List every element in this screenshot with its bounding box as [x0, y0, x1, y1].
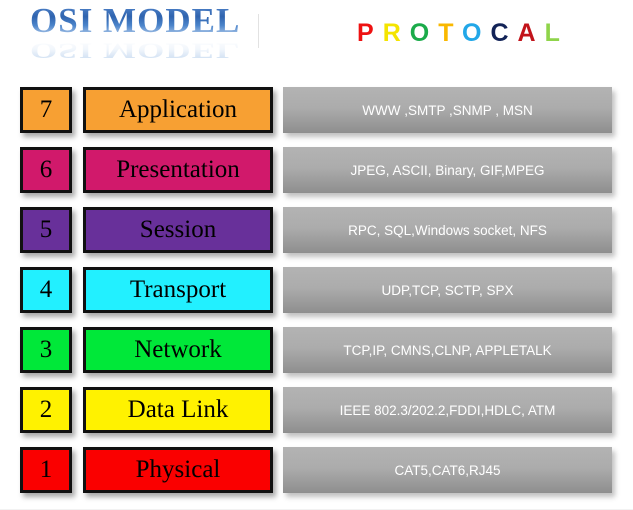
layer-name-box[interactable]: Data Link — [83, 387, 273, 433]
table-row: 4TransportUDP,TCP, SCTP, SPX — [0, 267, 633, 315]
table-row: 2Data LinkIEEE 802.3/202.2,FDDI,HDLC, AT… — [0, 387, 633, 435]
title-divider — [258, 14, 259, 48]
layer-number-label: 2 — [40, 396, 53, 424]
table-row: 7ApplicationWWW ,SMTP ,SNMP , MSN — [0, 87, 633, 135]
layer-number-box[interactable]: 5 — [20, 207, 72, 253]
protocol-title-letter-7: L — [545, 19, 569, 47]
layer-number-label: 7 — [40, 96, 53, 124]
layer-number-label: 6 — [40, 156, 53, 184]
layer-name-box[interactable]: Transport — [83, 267, 273, 313]
protocol-box[interactable]: RPC, SQL,Windows socket, NFS — [283, 207, 612, 253]
layer-name-label: Network — [134, 336, 221, 364]
layer-name-box[interactable]: Session — [83, 207, 273, 253]
protocol-label: TCP,IP, CMNS,CLNP, APPLETALK — [343, 343, 551, 358]
protocol-box[interactable]: CAT5,CAT6,RJ45 — [283, 447, 612, 493]
layer-number-box[interactable]: 2 — [20, 387, 72, 433]
layer-name-box[interactable]: Physical — [83, 447, 273, 493]
layer-number-box[interactable]: 4 — [20, 267, 72, 313]
layer-name-label: Data Link — [128, 396, 229, 424]
page-title: OSI MODEL — [30, 2, 270, 40]
layer-number-label: 5 — [40, 216, 53, 244]
osi-title-reflection: OSI MODEL — [30, 38, 270, 62]
layer-name-box[interactable]: Network — [83, 327, 273, 373]
layer-name-label: Session — [140, 216, 216, 244]
layer-number-box[interactable]: 1 — [20, 447, 72, 493]
protocol-box[interactable]: UDP,TCP, SCTP, SPX — [283, 267, 612, 313]
layer-name-label: Application — [119, 96, 237, 124]
layer-name-box[interactable]: Presentation — [83, 147, 273, 193]
table-row: 5SessionRPC, SQL,Windows socket, NFS — [0, 207, 633, 255]
layer-number-label: 1 — [40, 456, 53, 484]
layer-number-box[interactable]: 7 — [20, 87, 72, 133]
layer-name-label: Physical — [136, 456, 221, 484]
protocol-title-letter-5: C — [490, 19, 517, 47]
table-row: 1PhysicalCAT5,CAT6,RJ45 — [0, 447, 633, 495]
layer-name-box[interactable]: Application — [83, 87, 273, 133]
protocol-title-letter-2: O — [410, 19, 438, 47]
layer-name-label: Presentation — [116, 156, 240, 184]
protocol-column-title: PROTOCAL — [357, 19, 569, 48]
protocol-label: CAT5,CAT6,RJ45 — [394, 463, 500, 478]
protocol-box[interactable]: WWW ,SMTP ,SNMP , MSN — [283, 87, 612, 133]
protocol-label: IEEE 802.3/202.2,FDDI,HDLC, ATM — [340, 403, 556, 418]
table-row: 3NetworkTCP,IP, CMNS,CLNP, APPLETALK — [0, 327, 633, 375]
table-row: 6PresentationJPEG, ASCII, Binary, GIF,MP… — [0, 147, 633, 195]
protocol-label: RPC, SQL,Windows socket, NFS — [348, 223, 547, 238]
layer-number-box[interactable]: 6 — [20, 147, 72, 193]
osi-title-block: OSI MODEL OSI MODEL — [30, 2, 270, 64]
protocol-box[interactable]: JPEG, ASCII, Binary, GIF,MPEG — [283, 147, 612, 193]
layer-number-box[interactable]: 3 — [20, 327, 72, 373]
protocol-label: JPEG, ASCII, Binary, GIF,MPEG — [350, 163, 544, 178]
osi-model-diagram: OSI MODEL OSI MODEL PROTOCAL 7Applicatio… — [0, 0, 633, 510]
protocol-box[interactable]: TCP,IP, CMNS,CLNP, APPLETALK — [283, 327, 612, 373]
protocol-box[interactable]: IEEE 802.3/202.2,FDDI,HDLC, ATM — [283, 387, 612, 433]
protocol-title-letter-1: R — [383, 19, 410, 47]
protocol-title-letter-4: O — [462, 19, 490, 47]
layer-number-label: 3 — [40, 336, 53, 364]
protocol-title-letter-6: A — [518, 19, 545, 47]
layer-number-label: 4 — [40, 276, 53, 304]
protocol-title-letter-0: P — [357, 19, 383, 47]
protocol-label: WWW ,SMTP ,SNMP , MSN — [362, 103, 533, 118]
protocol-title-letter-3: T — [438, 19, 462, 47]
protocol-label: UDP,TCP, SCTP, SPX — [381, 283, 513, 298]
layer-name-label: Transport — [130, 276, 226, 304]
